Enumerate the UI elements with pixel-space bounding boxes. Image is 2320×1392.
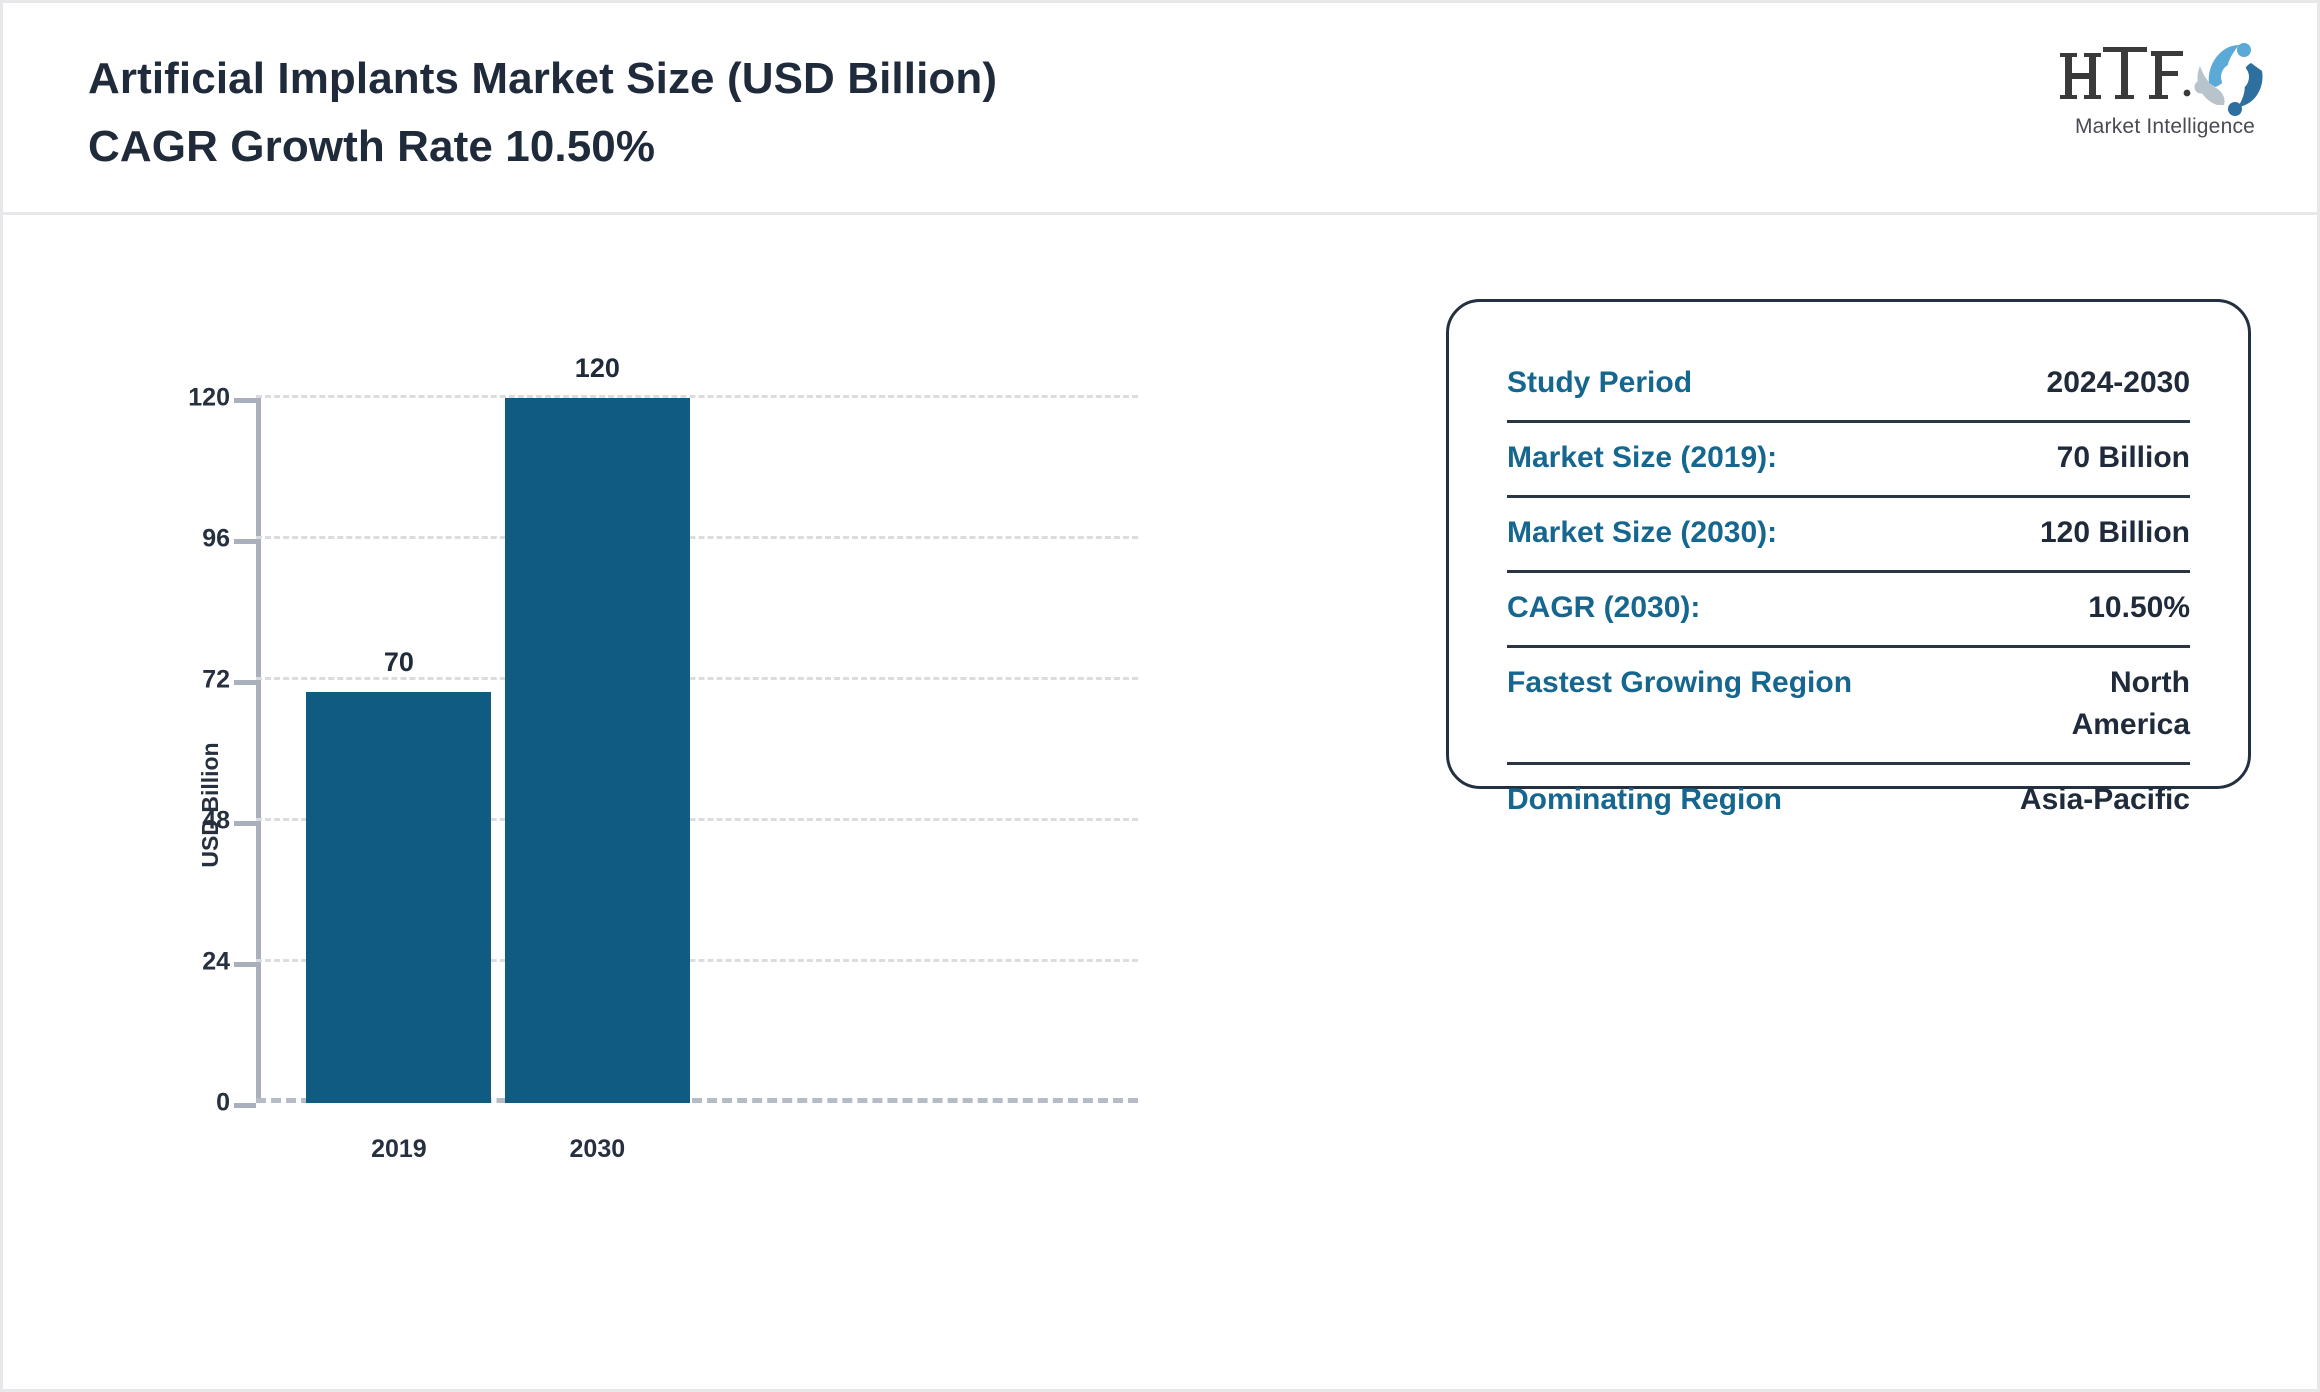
y-tick-mark: [234, 962, 256, 967]
summary-row: Fastest Growing RegionNorth America: [1507, 648, 2190, 765]
summary-row: Study Period2024-2030: [1507, 348, 2190, 423]
summary-row-label: Dominating Region: [1507, 779, 1782, 821]
y-tick-label: 72: [202, 666, 230, 695]
bar-value-label: 120: [575, 353, 620, 384]
summary-row-value: 2024-2030: [2047, 362, 2190, 404]
summary-row-value: 70 Billion: [2057, 437, 2190, 479]
summary-row-value: 120 Billion: [2040, 512, 2190, 554]
htf-logo-tagline: Market Intelligence: [2065, 115, 2265, 139]
page-title-line-2: CAGR Growth Rate 10.50%: [88, 113, 997, 181]
htf-logo-icon: [2059, 35, 2269, 119]
x-axis-label: 2030: [570, 1135, 626, 1164]
summary-row-label: Fastest Growing Region: [1507, 662, 1852, 704]
gridline: 120: [256, 395, 1138, 398]
summary-row: Market Size (2019):70 Billion: [1507, 423, 2190, 498]
y-tick-label: 24: [202, 948, 230, 977]
plot-area: 024487296120 7020191202030: [256, 398, 1138, 1103]
summary-card-rows: Study Period2024-2030Market Size (2019):…: [1507, 348, 2190, 837]
summary-row-label: CAGR (2030):: [1507, 587, 1700, 629]
y-tick-mark: [234, 821, 256, 826]
summary-row: Dominating RegionAsia-Pacific: [1507, 765, 2190, 837]
summary-card: Study Period2024-2030Market Size (2019):…: [1446, 299, 2251, 789]
gridline: 96: [256, 536, 1138, 539]
bar-chart: USD Billion 024487296120 7020191202030: [3, 215, 1253, 1392]
htf-logo: Market Intelligence: [2059, 35, 2269, 147]
y-tick-mark: [234, 680, 256, 685]
y-tick-label: 120: [188, 384, 230, 413]
page-title-line-1: Artificial Implants Market Size (USD Bil…: [88, 45, 997, 113]
summary-row-label: Market Size (2019):: [1507, 437, 1777, 479]
y-tick-mark: [234, 539, 256, 544]
y-axis-line: [256, 398, 261, 1103]
summary-row-value: North America: [2072, 662, 2190, 746]
bar-2019[interactable]: 702019: [306, 692, 491, 1103]
summary-row: Market Size (2030):120 Billion: [1507, 498, 2190, 573]
infographic-page: Artificial Implants Market Size (USD Bil…: [0, 0, 2320, 1392]
summary-row-label: Study Period: [1507, 362, 1692, 404]
header: Artificial Implants Market Size (USD Bil…: [3, 3, 2317, 215]
y-axis-title: USD Billion: [197, 742, 224, 867]
summary-row: CAGR (2030):10.50%: [1507, 573, 2190, 648]
bar-value-label: 70: [384, 647, 414, 678]
summary-row-value: 10.50%: [2088, 587, 2190, 629]
y-tick-mark: [234, 1103, 256, 1108]
y-tick-mark: [234, 398, 256, 403]
page-title: Artificial Implants Market Size (USD Bil…: [88, 45, 997, 181]
summary-row-label: Market Size (2030):: [1507, 512, 1777, 554]
y-tick-label: 48: [202, 807, 230, 836]
bar-2030[interactable]: 1202030: [505, 398, 690, 1103]
x-axis-label: 2019: [371, 1135, 427, 1164]
y-tick-label: 96: [202, 525, 230, 554]
y-tick-label: 0: [216, 1089, 230, 1118]
summary-row-value: Asia-Pacific: [2020, 779, 2190, 821]
